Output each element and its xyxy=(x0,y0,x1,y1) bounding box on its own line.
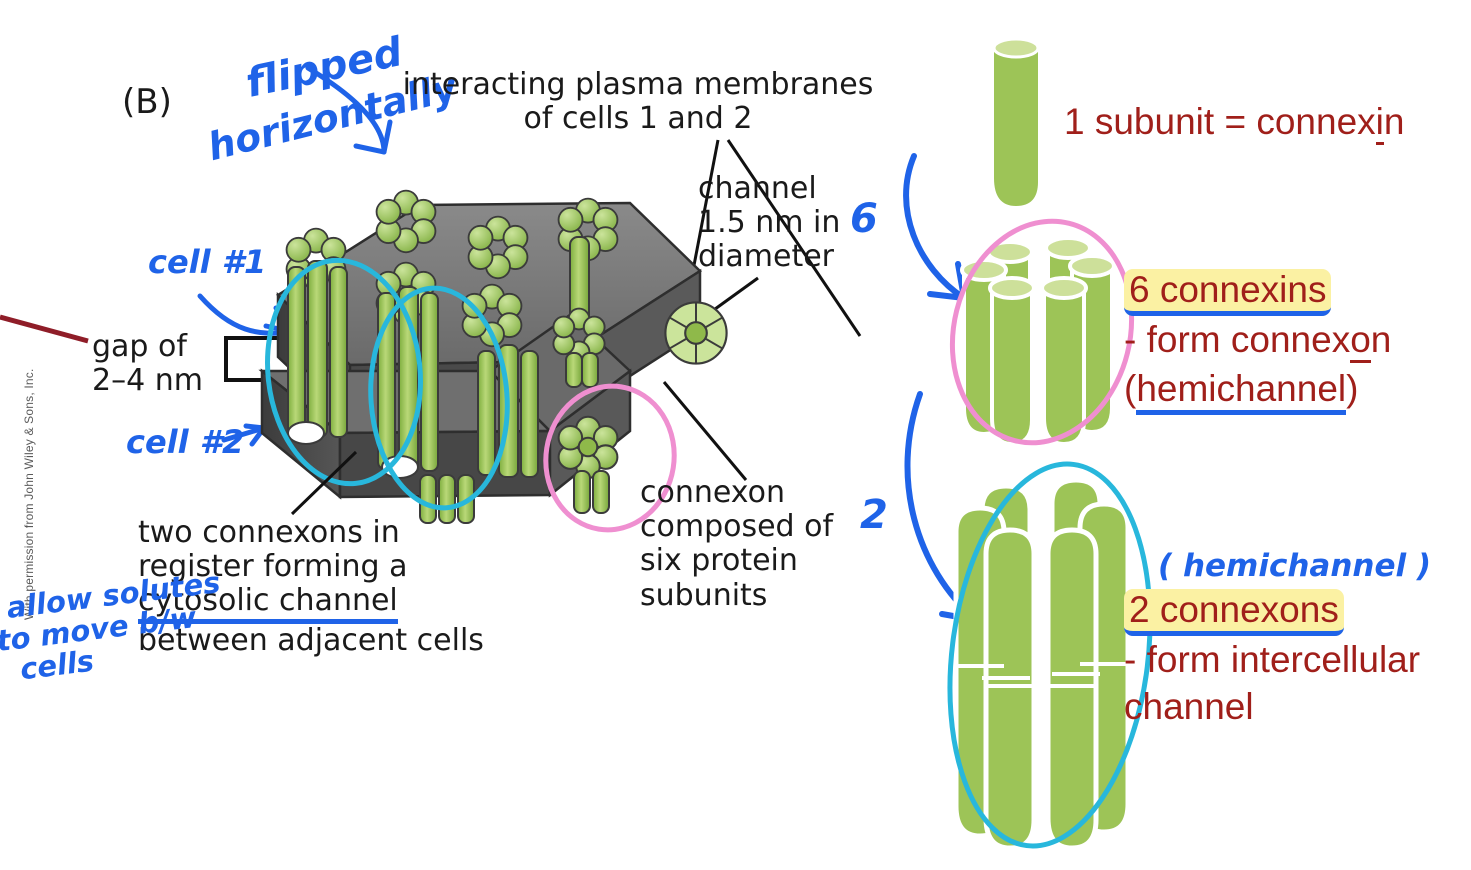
handwriting-six: 6 xyxy=(850,196,878,242)
annotation-one-subunit-underlined: i xyxy=(1376,101,1384,145)
label-interacting-membranes: interacting plasma membranes of cells 1 … xyxy=(398,68,878,136)
leader-line-icon-two-connexons xyxy=(290,452,370,522)
label-two-connexons-line1: two connexons in xyxy=(138,516,484,550)
handwriting-two: 2 xyxy=(860,492,888,538)
label-gap: gap of 2–4 nm xyxy=(92,330,203,398)
annotation-two-connexons-block: 2 connexons - form intercellular channel xyxy=(1124,588,1420,729)
handwriting-hemichannel-note: ( hemichannel ) xyxy=(1158,548,1431,584)
annotation-hemichannel-open: ( xyxy=(1124,368,1136,409)
panel-label: (B) xyxy=(122,82,172,122)
annotation-hemichannel-word: hemichannel xyxy=(1136,368,1346,415)
publisher-credit: With permission from John Wiley & Sons, … xyxy=(22,368,36,620)
annotation-form-intercellular-line1: - form intercellular xyxy=(1124,638,1420,682)
annotation-six-connexins: 6 connexins xyxy=(1124,269,1331,316)
annotation-hemichannel-close: ) xyxy=(1346,368,1358,409)
annotation-form-connexon-pre: - form connex xyxy=(1124,319,1350,360)
annotation-two-connexons: 2 connexons xyxy=(1124,589,1344,636)
pink-highlight-oval-icon-connexon xyxy=(938,210,1153,455)
annotation-one-subunit-post: n xyxy=(1384,101,1405,142)
figure-canvas: With permission from John Wiley & Sons, … xyxy=(0,0,1471,865)
connexon-top-view xyxy=(665,302,726,363)
annotation-two-connexons-line: 2 connexons xyxy=(1124,588,1420,632)
connexin-subunit-diagram xyxy=(986,32,1056,212)
cyan-highlight-oval-icon-mid xyxy=(355,280,545,530)
blue-arrow-icon-flipped xyxy=(300,60,410,170)
annotation-form-connexon-post: n xyxy=(1371,319,1392,360)
annotation-six-connexins-block: 6 connexins - form connexon (hemichannel… xyxy=(1124,268,1391,411)
label-connexon-composition: connexon composed of six protein subunit… xyxy=(640,476,833,613)
annotation-form-connexon: - form connexon xyxy=(1124,318,1391,362)
annotation-one-subunit: 1 subunit = connexin xyxy=(1064,100,1404,144)
annotation-one-subunit-pre: 1 subunit = connex xyxy=(1064,101,1376,142)
annotation-form-connexon-underlined: o xyxy=(1350,319,1371,363)
annotation-form-intercellular-line2: channel xyxy=(1124,685,1420,729)
annotation-hemichannel: (hemichannel) xyxy=(1124,367,1391,411)
leader-line-icon-connexon-desc xyxy=(660,380,750,490)
annotation-six-connexins-line: 6 connexins xyxy=(1124,268,1391,312)
